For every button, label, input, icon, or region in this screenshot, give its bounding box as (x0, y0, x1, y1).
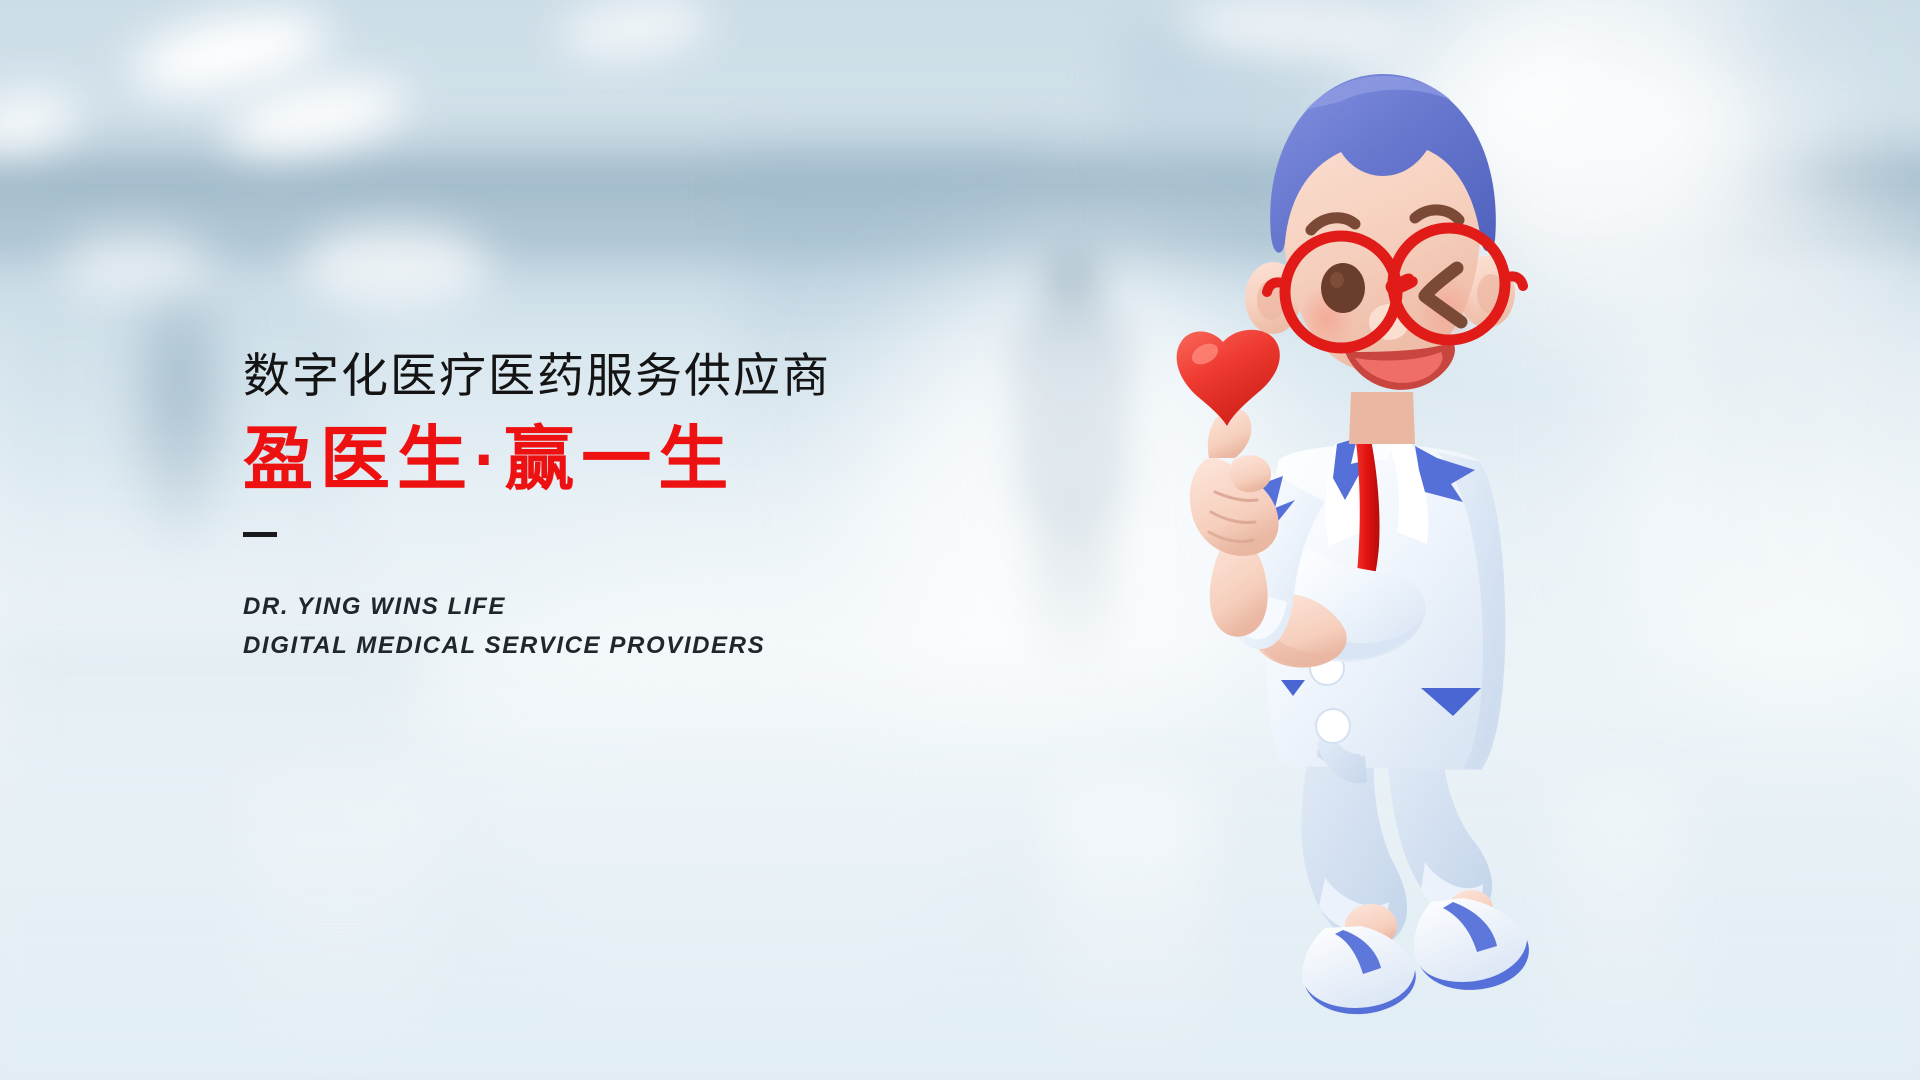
english-tagline-block: DR. YING WINS LIFE DIGITAL MEDICAL SERVI… (243, 587, 831, 665)
subtitle-chinese: 数字化医疗医药服务供应商 (243, 350, 831, 403)
headline-chinese: 盈医生·赢一生 (243, 421, 831, 498)
finger-heart-gesture (1190, 408, 1279, 556)
hero-copy-block: 数字化医疗医药服务供应商 盈医生·赢一生 DR. YING WINS LIFE … (243, 350, 831, 665)
ceiling-light (60, 230, 210, 300)
mascot-head (1245, 74, 1523, 390)
divider-rule (243, 532, 277, 537)
hero-banner: 数字化医疗医药服务供应商 盈医生·赢一生 DR. YING WINS LIFE … (0, 0, 1920, 1080)
english-tagline-line-1: DR. YING WINS LIFE (243, 587, 831, 626)
english-tagline-line-2: DIGITAL MEDICAL SERVICE PROVIDERS (243, 626, 831, 665)
ceiling-light (300, 225, 490, 305)
floating-heart-icon (1177, 330, 1280, 426)
mascot-neck (1349, 392, 1415, 444)
doctor-mascot (1175, 40, 1605, 1050)
background-person-silhouette (120, 300, 240, 560)
floor-light-streak (250, 780, 430, 1080)
